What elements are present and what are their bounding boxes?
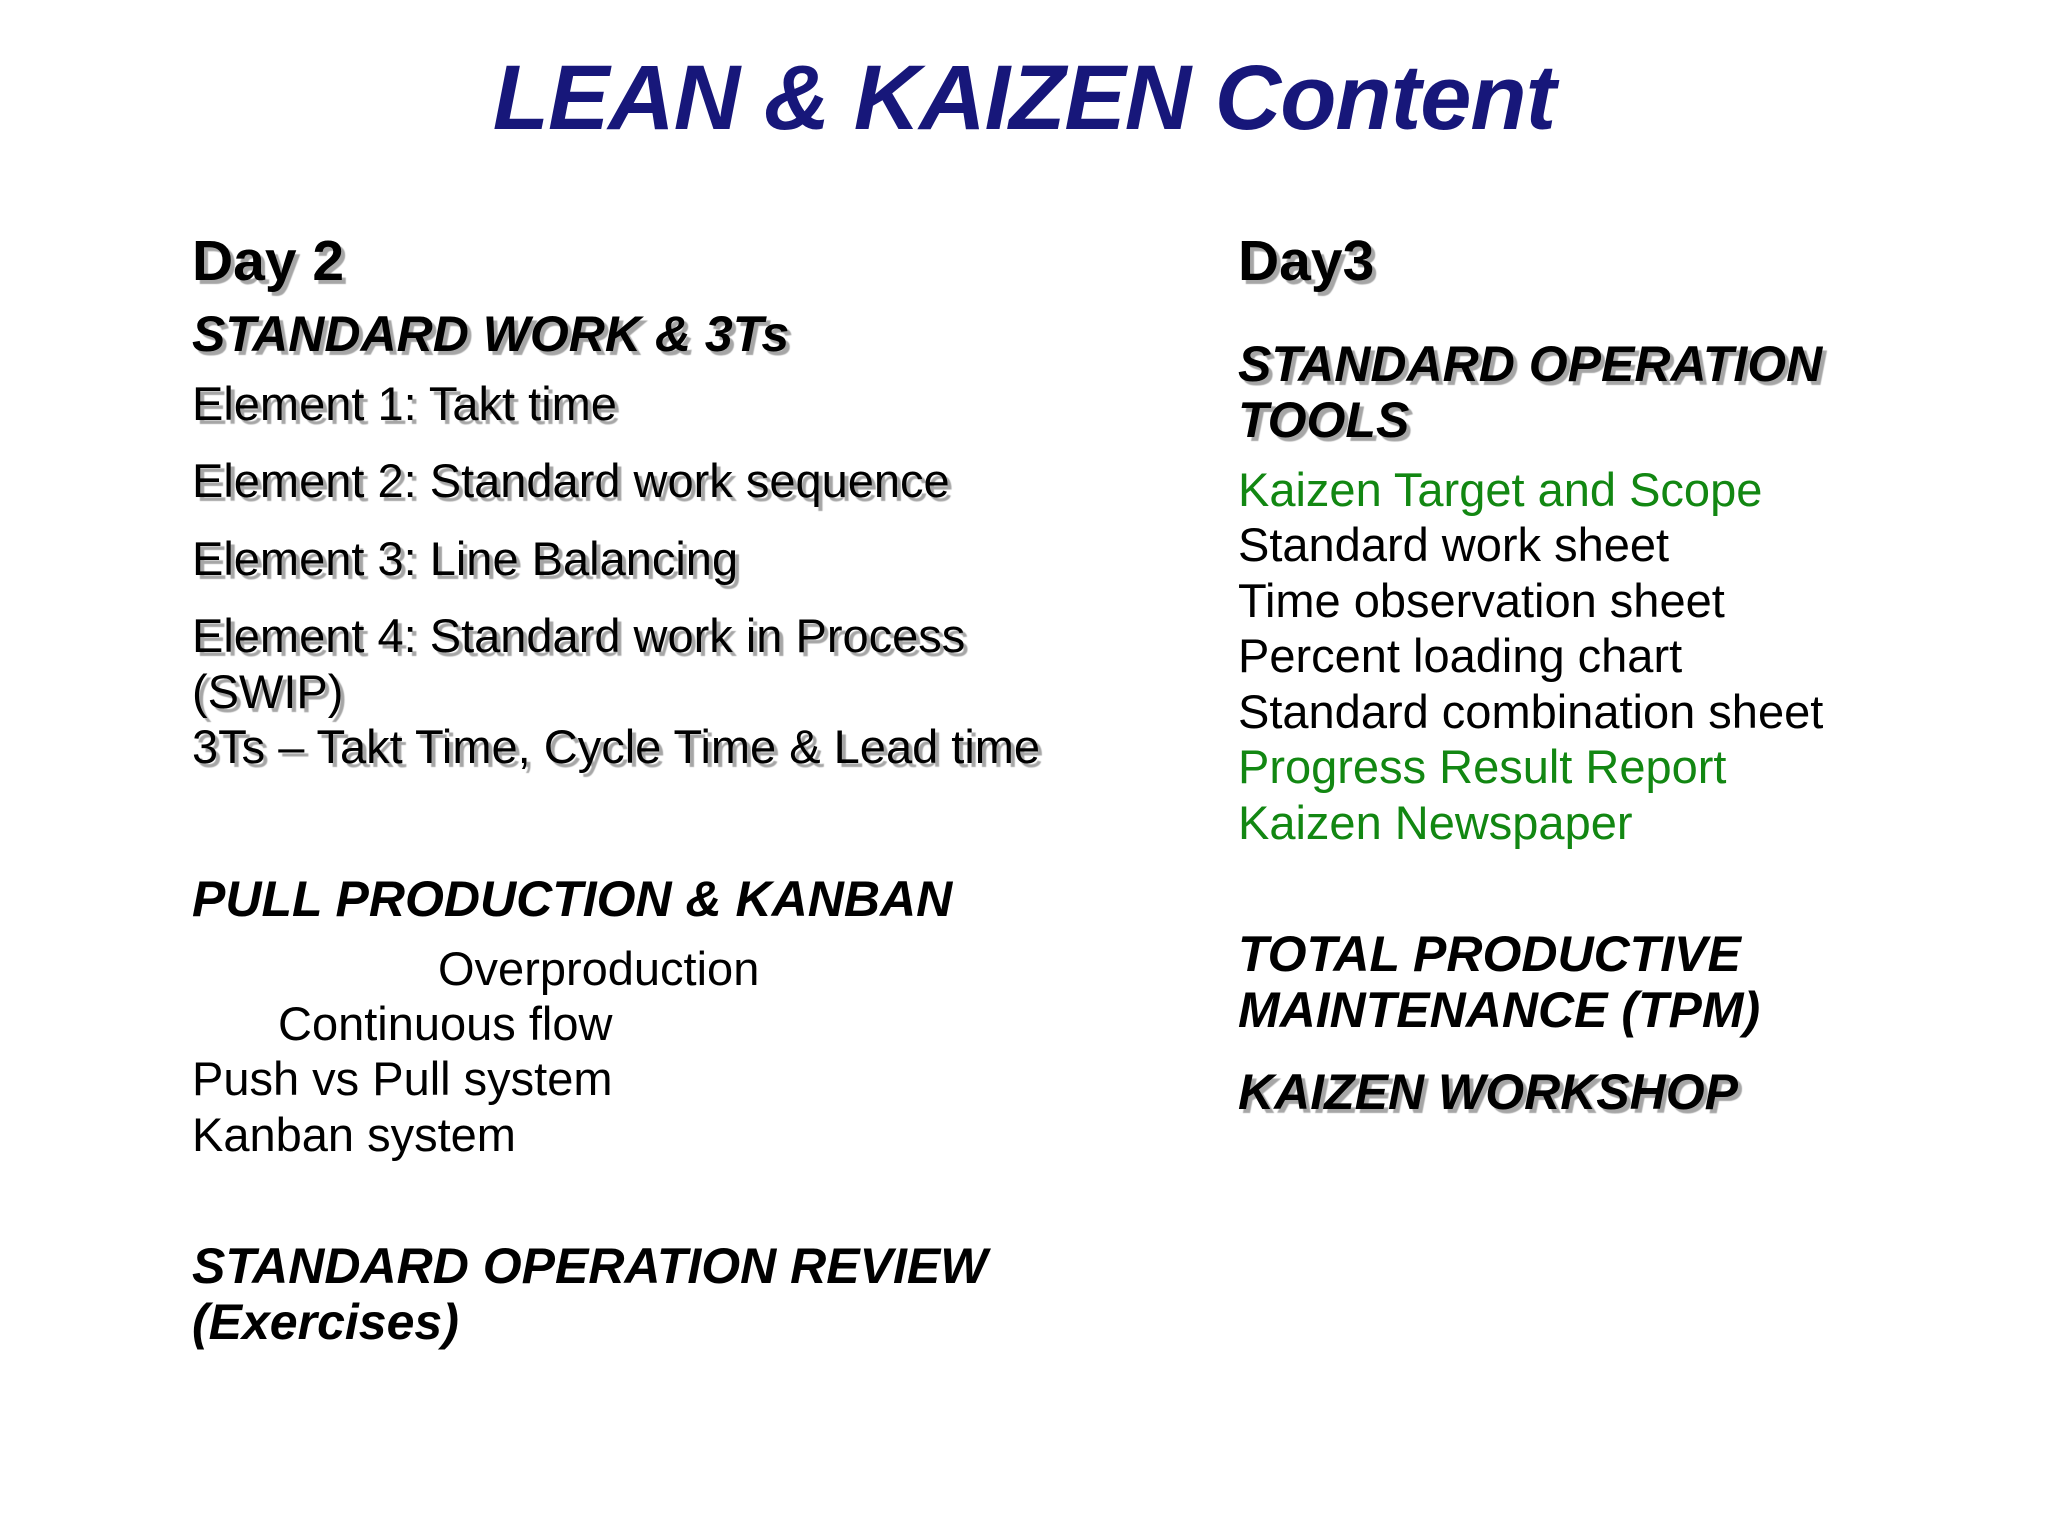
list-item: Element 1: Takt time	[192, 376, 1092, 431]
standard-operation-tools-heading-line2: TOOLS	[1238, 392, 2018, 448]
list-item: Kaizen Newspaper	[1238, 795, 2018, 850]
list-item: Kanban system	[192, 1107, 1092, 1162]
page-title: LEAN & KAIZEN Content	[0, 46, 2048, 151]
list-item: Continuous flow	[192, 996, 1092, 1051]
day-2-heading: Day 2	[192, 232, 1092, 292]
list-item: Element 4: Standard work in Process (SWI…	[192, 608, 1092, 719]
standard-operation-tools-heading: STANDARD OPERATION	[1238, 336, 2018, 392]
right-column: Day3 STANDARD OPERATION TOOLS Kaizen Tar…	[1238, 232, 2018, 1120]
list-item: Percent loading chart	[1238, 628, 2018, 683]
list-item: Element 3: Line Balancing	[192, 531, 1092, 586]
day-3-heading: Day3	[1238, 232, 2018, 292]
standard-operation-review-heading: STANDARD OPERATION REVIEW	[192, 1238, 1092, 1294]
list-item: Kaizen Target and Scope	[1238, 462, 2018, 517]
left-column: Day 2 STANDARD WORK & 3Ts Element 1: Tak…	[192, 232, 1092, 1350]
list-item: 3Ts – Takt Time, Cycle Time & Lead time	[192, 719, 1092, 774]
list-item: Progress Result Report	[1238, 739, 2018, 794]
pull-production-heading: PULL PRODUCTION & KANBAN	[192, 871, 1092, 927]
spacer	[192, 927, 1092, 941]
list-item: Element 2: Standard work sequence	[192, 453, 1092, 508]
spacer	[192, 1162, 1092, 1238]
list-item: Push vs Pull system	[192, 1051, 1092, 1106]
list-item: Standard combination sheet	[1238, 684, 2018, 739]
list-item: Overproduction	[192, 941, 1092, 996]
list-item: Standard work sheet	[1238, 517, 2018, 572]
spacer	[192, 292, 1092, 306]
list-item: Time observation sheet	[1238, 573, 2018, 628]
spacer	[192, 775, 1092, 871]
standard-work-heading: STANDARD WORK & 3Ts	[192, 306, 1092, 362]
spacer	[1238, 448, 2018, 462]
spacer	[1238, 292, 2018, 336]
standard-operation-review-subheading: (Exercises)	[192, 1294, 1092, 1350]
kaizen-workshop-heading: KAIZEN WORKSHOP	[1238, 1064, 2018, 1120]
tpm-heading: TOTAL PRODUCTIVE	[1238, 926, 2018, 982]
spacer	[1238, 850, 2018, 926]
spacer	[192, 362, 1092, 376]
tpm-heading-line2: MAINTENANCE (TPM)	[1238, 982, 2018, 1038]
spacer	[1238, 1038, 2018, 1064]
